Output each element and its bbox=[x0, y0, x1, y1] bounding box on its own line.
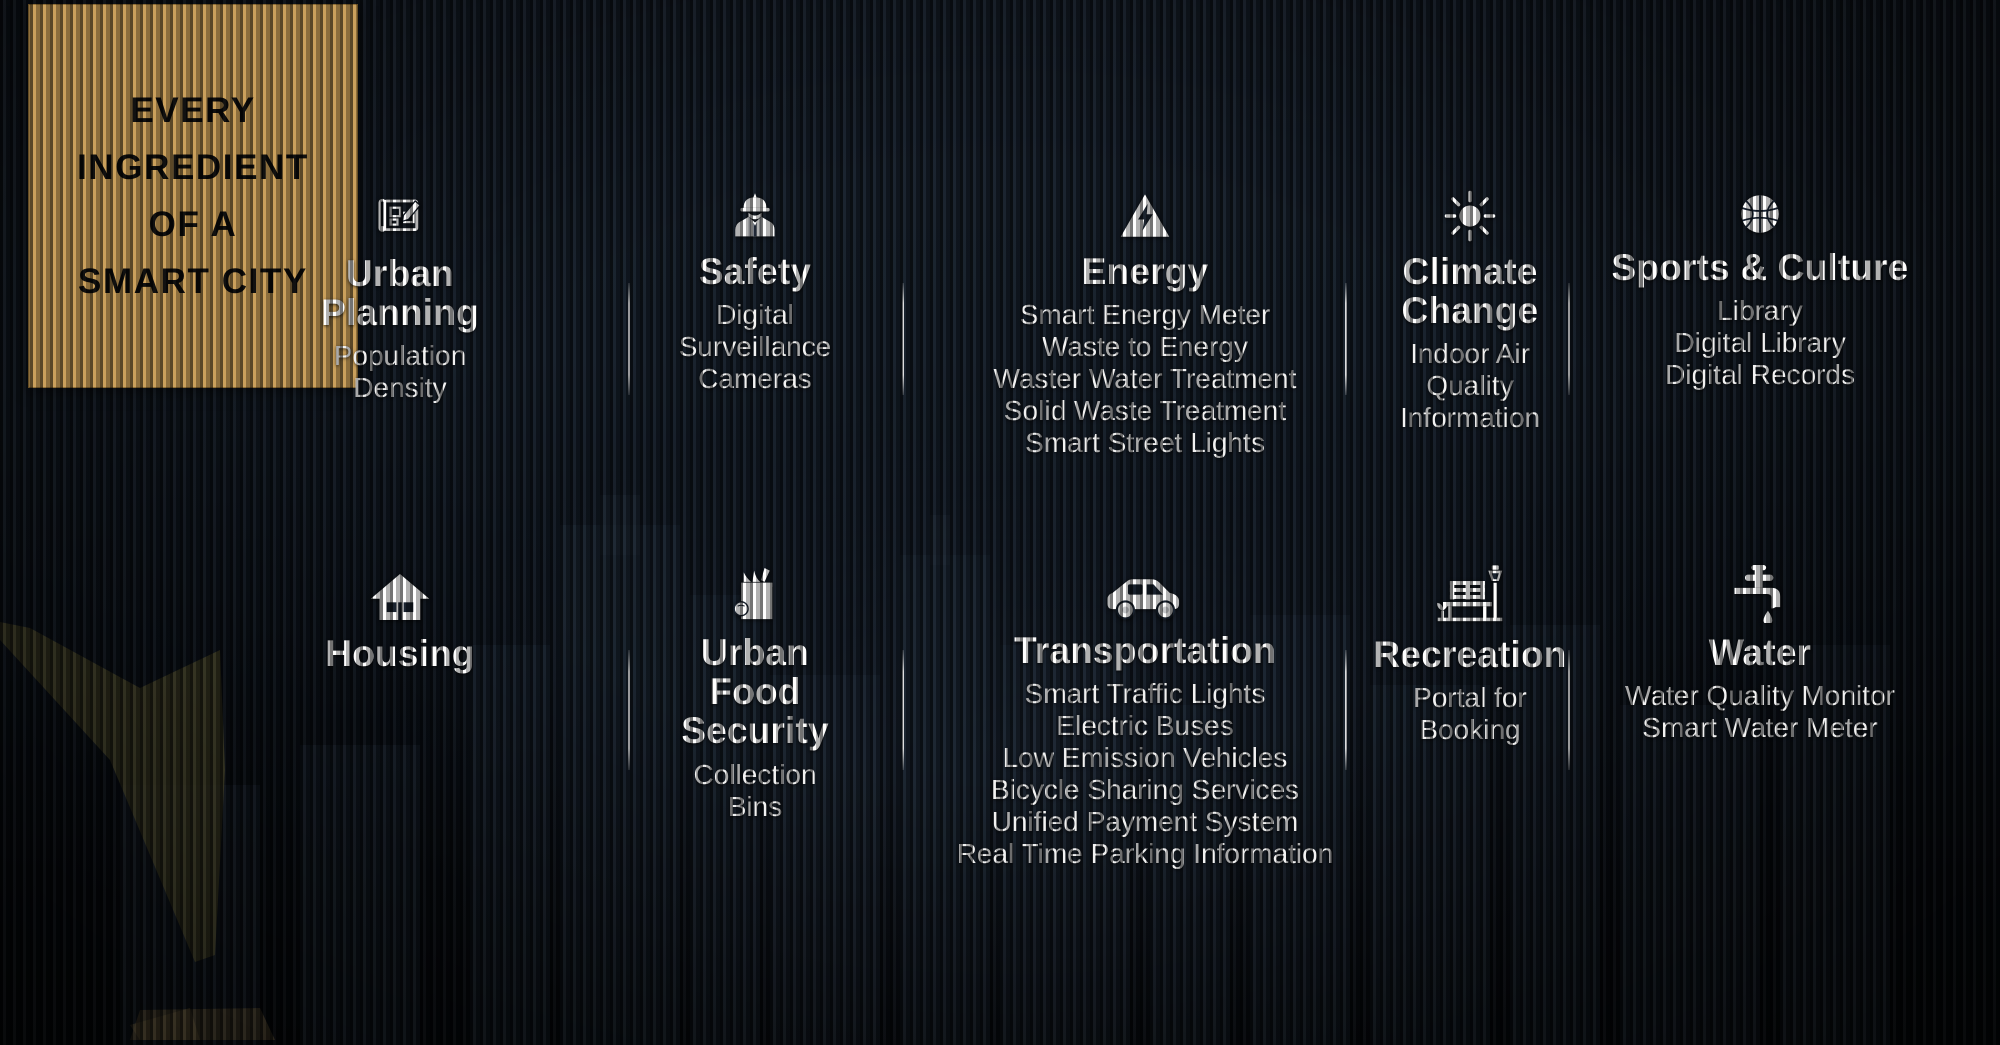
category-title: Sports & Culture bbox=[1590, 248, 1930, 287]
category-grid: Urban Planning Population Density bbox=[0, 0, 2000, 1045]
category-items: Portal for Booking bbox=[1370, 682, 1570, 746]
divider-8 bbox=[1568, 650, 1570, 770]
category-energy[interactable]: Energy Smart Energy Meter Waste to Energ… bbox=[920, 190, 1370, 459]
blueprint-icon bbox=[373, 190, 427, 244]
category-recreation[interactable]: Recreation Portal for Booking bbox=[1370, 565, 1570, 746]
category-transportation[interactable]: Transportation Smart Traffic Lights Elec… bbox=[920, 575, 1370, 870]
category-climate-change[interactable]: Climate Change Indoor Air Quality Inform… bbox=[1370, 190, 1570, 434]
category-items: Digital Surveillance Cameras bbox=[640, 299, 870, 395]
basketball-icon bbox=[1736, 190, 1784, 238]
category-items: Population Density bbox=[300, 340, 500, 404]
construction-worker-icon bbox=[729, 190, 781, 242]
category-title: Climate Change bbox=[1370, 252, 1570, 330]
category-title: Housing bbox=[300, 634, 500, 673]
category-water[interactable]: Water Water Quality Monitor Smart Water … bbox=[1590, 565, 1930, 744]
category-title: Energy bbox=[920, 252, 1370, 291]
car-icon bbox=[1104, 575, 1186, 621]
category-title: Recreation bbox=[1370, 635, 1570, 674]
category-items: Indoor Air Quality Information bbox=[1370, 338, 1570, 434]
divider-5 bbox=[628, 650, 630, 770]
category-housing[interactable]: Housing bbox=[300, 570, 500, 681]
grocery-bag-icon bbox=[729, 565, 781, 623]
faucet-icon bbox=[1729, 565, 1791, 623]
sun-icon bbox=[1444, 190, 1496, 242]
park-bench-icon bbox=[1436, 565, 1504, 625]
high-voltage-icon bbox=[1117, 190, 1173, 242]
category-items: Smart Energy Meter Waste to Energy Waste… bbox=[920, 299, 1370, 459]
category-title: Safety bbox=[640, 252, 870, 291]
divider-3 bbox=[1345, 283, 1347, 395]
divider-2 bbox=[902, 283, 904, 395]
divider-1 bbox=[628, 283, 630, 395]
divider-6 bbox=[902, 650, 904, 770]
divider-4 bbox=[1568, 283, 1570, 395]
category-title: Water bbox=[1590, 633, 1930, 672]
category-items: Smart Traffic Lights Electric Buses Low … bbox=[920, 678, 1370, 869]
category-title: Urban Planning bbox=[300, 254, 500, 332]
category-urban-planning[interactable]: Urban Planning Population Density bbox=[300, 190, 500, 404]
house-icon bbox=[369, 570, 431, 624]
category-urban-food-security[interactable]: Urban Food Security Collection Bins bbox=[640, 565, 870, 822]
category-items: Library Digital Library Digital Records bbox=[1590, 295, 1930, 391]
smart-city-infographic: EVERY INGREDIENT OF A SMART CITY Urban P… bbox=[0, 0, 2000, 1045]
category-title: Urban Food Security bbox=[640, 633, 870, 751]
divider-7 bbox=[1345, 650, 1347, 770]
category-sports-culture[interactable]: Sports & Culture Library Digital Library… bbox=[1590, 190, 1930, 391]
category-items: Collection Bins bbox=[640, 759, 870, 823]
category-safety[interactable]: Safety Digital Surveillance Cameras bbox=[640, 190, 870, 395]
category-items: Water Quality Monitor Smart Water Meter bbox=[1590, 680, 1930, 744]
category-title: Transportation bbox=[920, 631, 1370, 670]
